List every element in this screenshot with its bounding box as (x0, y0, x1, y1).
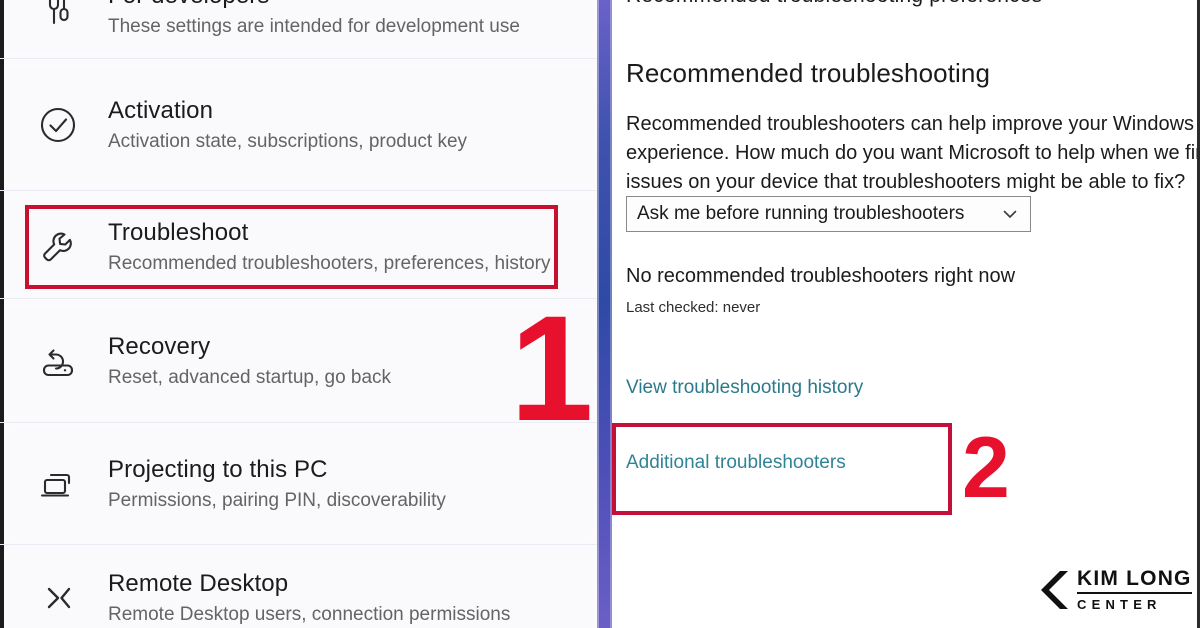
chevron-logo-icon (1038, 569, 1070, 611)
watermark-logo: KIM LONG CENTER (1038, 568, 1192, 611)
row-divider (0, 544, 597, 545)
sidebar-item-title: Remote Desktop (108, 570, 510, 599)
settings-screenshot: For developers These settings are intend… (0, 0, 1200, 628)
description-line: issues on your device that troubleshoote… (626, 168, 1200, 197)
sidebar-item-remote-desktop[interactable]: Remote Desktop Remote Desktop users, con… (8, 552, 593, 628)
sidebar-item-for-developers[interactable]: For developers These settings are intend… (8, 0, 593, 54)
watermark-line-1: KIM LONG (1077, 568, 1192, 594)
sidebar-item-recovery[interactable]: Recovery Reset, advanced startup, go bac… (8, 306, 593, 416)
description-line: Recommended troubleshooters can help imp… (626, 110, 1200, 139)
sidebar-item-subtitle: Permissions, pairing PIN, discoverabilit… (108, 489, 446, 513)
sidebar-item-subtitle: These settings are intended for developm… (108, 15, 520, 39)
watermark-line-2: CENTER (1077, 594, 1192, 611)
project-screens-icon (8, 462, 108, 506)
row-divider (0, 298, 597, 299)
troubleshoot-detail-panel: Recommended troubleshooting preferences … (612, 0, 1200, 628)
annotation-step-marker-2: 2 (962, 425, 1010, 511)
row-divider (0, 58, 597, 59)
remote-desktop-chevrons-icon (8, 576, 108, 620)
drive-undo-icon (8, 339, 108, 383)
status-text: No recommended troubleshooters right now (626, 265, 1015, 288)
chevron-down-icon (1000, 204, 1020, 224)
annotation-step-marker-1: 1 (510, 293, 591, 443)
description-text: Recommended troubleshooters can help imp… (626, 110, 1200, 197)
page-title: Recommended troubleshooting (626, 58, 990, 89)
last-checked-text: Last checked: never (626, 299, 760, 316)
panel-divider (597, 0, 612, 628)
annotation-highlight-troubleshoot (25, 205, 558, 289)
sidebar-item-title: Projecting to this PC (108, 456, 446, 485)
dropdown-selected-value: Ask me before running troubleshooters (637, 203, 1000, 225)
row-divider (0, 422, 597, 423)
troubleshooting-preference-dropdown[interactable]: Ask me before running troubleshooters (626, 196, 1031, 232)
row-divider (0, 190, 597, 191)
annotation-highlight-additional-troubleshooters (612, 423, 952, 515)
sidebar-item-subtitle: Remote Desktop users, connection permiss… (108, 603, 510, 627)
sidebar-item-subtitle: Activation state, subscriptions, product… (108, 130, 467, 154)
link-view-troubleshooting-history[interactable]: View troubleshooting history (626, 377, 863, 399)
sidebar-item-title: For developers (108, 0, 520, 11)
sidebar-item-title: Activation (108, 97, 467, 126)
clipped-heading-text: Recommended troubleshooting preferences (626, 0, 1042, 8)
developer-tools-icon (8, 0, 108, 30)
sidebar-item-projecting-to-this-pc[interactable]: Projecting to this PC Permissions, pairi… (8, 430, 593, 538)
settings-system-list: For developers These settings are intend… (0, 0, 597, 628)
clipped-heading-above: Recommended troubleshooting preferences (612, 0, 1200, 8)
check-circle-icon (8, 103, 108, 147)
sidebar-item-subtitle: Reset, advanced startup, go back (108, 366, 391, 390)
sidebar-item-activation[interactable]: Activation Activation state, subscriptio… (8, 66, 593, 184)
description-line: experience. How much do you want Microso… (626, 139, 1200, 168)
sidebar-item-title: Recovery (108, 333, 391, 362)
